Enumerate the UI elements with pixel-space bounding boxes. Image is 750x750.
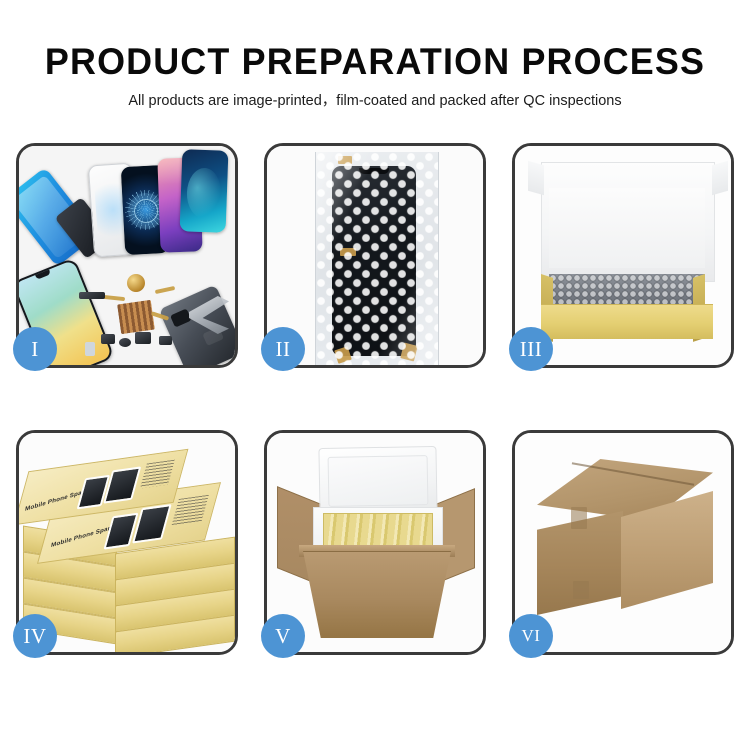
phone-back-housing-icon <box>159 285 235 365</box>
bubble-wrap-layer <box>549 274 705 306</box>
teal-gradient-phone-icon <box>180 149 229 233</box>
box-stack-scene: Mobile Phone Spare Parts Mobile Phone Sp… <box>19 433 235 652</box>
bubble-wrap-scene <box>267 146 483 365</box>
yellow-box-front <box>541 304 713 339</box>
process-step-panel-4: Mobile Phone Spare Parts Mobile Phone Sp… <box>16 430 238 655</box>
tape-strip-icon <box>571 507 587 529</box>
step-5-image <box>267 433 483 652</box>
inner-box-scene <box>515 146 731 365</box>
phone-parts-scene <box>19 146 235 365</box>
tape-strip-icon <box>573 581 589 599</box>
sim-tray-icon <box>85 342 95 356</box>
sealed-carton-scene <box>515 433 731 652</box>
film-sheen <box>316 152 438 365</box>
carton-body <box>303 551 451 638</box>
step-4-image: Mobile Phone Spare Parts Mobile Phone Sp… <box>19 433 235 652</box>
earpiece-speaker-icon <box>79 292 105 299</box>
bubble-wrap-sleeve <box>315 152 439 365</box>
process-step-panel-5: V <box>264 430 486 655</box>
step-badge-6: VI <box>509 614 553 658</box>
speaker-coil-icon <box>127 274 145 292</box>
page-title: PRODUCT PREPARATION PROCESS <box>11 40 739 84</box>
step-3-image <box>515 146 731 365</box>
product-window <box>103 466 141 503</box>
process-step-panel-6: VI <box>512 430 734 655</box>
connector-icon <box>159 336 172 345</box>
foam-box-lid <box>318 446 437 516</box>
step-badge-4: IV <box>13 614 57 658</box>
flex-cable-icon <box>103 295 125 301</box>
process-step-panel-1: I <box>16 143 238 368</box>
circuit-board-icon <box>117 300 155 334</box>
step-badge-5: V <box>261 614 305 658</box>
product-window <box>132 504 172 544</box>
page-header: PRODUCT PREPARATION PROCESS All products… <box>0 0 750 112</box>
step-2-image <box>267 146 483 365</box>
camera-module-icon <box>135 332 151 344</box>
process-step-panel-3: III <box>512 143 734 368</box>
product-window <box>103 513 138 550</box>
step-badge-1: I <box>13 327 57 371</box>
spec-text-lines <box>140 460 175 489</box>
small-component-icon <box>101 334 115 344</box>
step-badge-2: II <box>261 327 305 371</box>
foam-sheet <box>549 188 705 268</box>
carton-packing-scene <box>267 433 483 652</box>
vibrator-motor-icon <box>119 338 131 347</box>
page-subtitle: All products are image-printed，film-coat… <box>0 90 750 112</box>
flex-cable-icon <box>155 286 175 294</box>
step-1-image <box>19 146 235 365</box>
step-badge-3: III <box>509 327 553 371</box>
process-step-grid: I II <box>16 143 734 655</box>
spec-text-lines <box>171 495 208 526</box>
step-6-image <box>515 433 731 652</box>
process-step-panel-2: II <box>264 143 486 368</box>
